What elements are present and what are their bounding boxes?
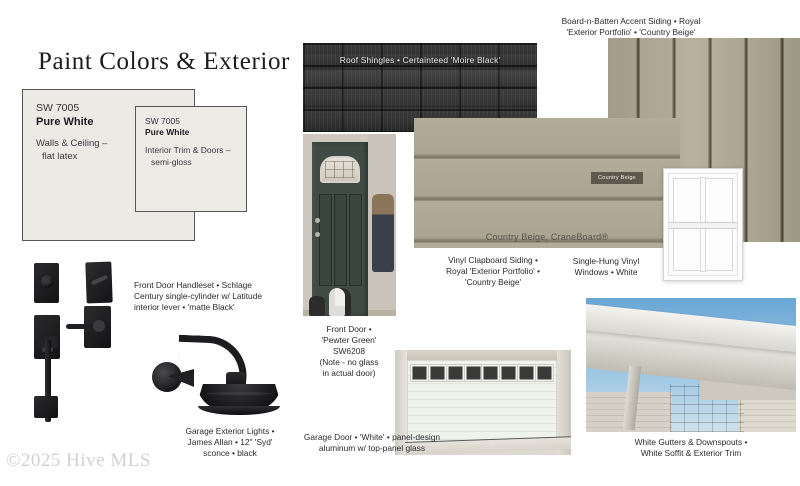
door-panel-2 [334, 194, 347, 286]
window-caption-line2: Windows • White [556, 267, 656, 278]
garage-pane [465, 365, 482, 381]
paint-swatch-trim-doors: SW 7005 Pure White Interior Trim & Doors… [135, 106, 247, 212]
page-title: Paint Colors & Exterior [38, 48, 290, 76]
keyway-icon [91, 275, 108, 286]
paint-and-exterior-selection-board: Paint Colors & Exterior SW 7005 Pure Whi… [0, 0, 800, 486]
handleset-lower-plate [34, 396, 58, 418]
mls-watermark: ©2025 Hive MLS [6, 450, 151, 472]
sconce-shade-rim [198, 406, 280, 415]
handleset-caption-line2: Century single-cylinder w/ Latitude [134, 291, 304, 302]
front-door-caption-line4: (Note - no glass [302, 357, 396, 368]
exterior-escutcheon-plate-image [85, 262, 112, 304]
gutters-soffit-image [586, 298, 796, 432]
door-glass-grid [325, 161, 355, 178]
dog [329, 288, 351, 316]
gutters-caption-line1: White Gutters & Downspouts • [604, 437, 778, 448]
front-door-caption: Front Door • 'Pewter Green' SW6208 (Note… [302, 324, 396, 379]
garage-pane [447, 365, 464, 381]
clapboard-caption-line1: Vinyl Clapboard Siding • [418, 255, 568, 266]
handleset-caption-line1: Front Door Handleset • Schlage [134, 280, 304, 291]
vinyl-clapboard-caption: Vinyl Clapboard Siding • Royal 'Exterior… [418, 255, 568, 288]
handleset-caption-line3: interior lever • 'matte Black' [134, 302, 304, 313]
garage-door-caption: Garage Door • 'White' • panel-design alu… [292, 432, 452, 454]
gutter-wall-siding-right [738, 398, 796, 432]
clapboard-caption-line2: Royal 'Exterior Portfolio' • [418, 266, 568, 277]
door-glass-lite [320, 156, 360, 183]
swatch-use-trim-line1: Interior Trim & Doors – [145, 145, 246, 157]
garage-pane [500, 365, 517, 381]
front-door-caption-line5: in actual door) [302, 368, 396, 379]
sconce-caption-line3: sconce • black [164, 448, 296, 459]
swatch-name-trim: Pure White [145, 127, 246, 138]
lever-rose-icon [93, 320, 105, 332]
batten-caption-line2: 'Exterior Portfolio' • 'Country Beige' [526, 27, 736, 38]
single-hung-vinyl-window-image [663, 168, 743, 281]
gutters-caption-line2: White Soffit & Exterior Trim [604, 448, 778, 459]
board-n-batten-caption: Board-n-Batten Accent Siding • Royal 'Ex… [526, 16, 736, 38]
garage-pane [518, 365, 535, 381]
sconce-caption: Garage Exterior Lights • James Allan • 1… [164, 426, 296, 459]
garage-pane [536, 365, 553, 381]
window-sash-divider [669, 223, 737, 228]
hanging-coat [372, 194, 394, 272]
garage-pane [429, 365, 446, 381]
batten-caption-line1: Board-n-Batten Accent Siding • Royal [526, 16, 736, 27]
garage-pane [411, 365, 428, 381]
front-door-caption-line3: SW6208 [302, 346, 396, 357]
sconce-caption-line1: Garage Exterior Lights • [164, 426, 296, 437]
handleset-caption: Front Door Handleset • Schlage Century s… [134, 280, 304, 313]
window-caption-line1: Single-Hung Vinyl [556, 256, 656, 267]
garage-pane [482, 365, 499, 381]
window-caption: Single-Hung Vinyl Windows • White [556, 256, 656, 278]
garage-caption-line2: aluminum w/ top-panel glass [292, 443, 452, 454]
door-panel-3 [349, 194, 362, 286]
deadbolt-plate-image [34, 263, 59, 303]
latitude-interior-lever-image [84, 306, 111, 348]
garage-caption-line1: Garage Door • 'White' • panel-design [292, 432, 452, 443]
roof-shingles-label: Roof Shingles • Certainteed 'Moire Black… [303, 55, 537, 65]
sconce-shade-highlight [206, 392, 272, 395]
country-beige-color-chip: Country Beige [591, 172, 643, 184]
deadbolt-thumbturn-icon [41, 275, 54, 288]
front-door-image [303, 134, 396, 316]
clapboard-caption-line3: 'Country Beige' [418, 277, 568, 288]
door-deadbolt-icon [315, 218, 320, 223]
front-door-caption-line2: 'Pewter Green' [302, 335, 396, 346]
door-wall-left [303, 134, 312, 316]
vinyl-clapboard-siding-image: Country Beige Country Beige, CraneBoard® [414, 118, 680, 248]
front-door-caption-line1: Front Door • [302, 324, 396, 335]
door-panel-1 [319, 194, 332, 286]
swatch-code-trim: SW 7005 [145, 116, 246, 127]
door-knob-icon [315, 232, 320, 237]
craneboard-brand-label: Country Beige, CraneBoard® [414, 232, 680, 242]
sconce-caption-line2: James Allan • 12" 'Syd' [164, 437, 296, 448]
dog-second [309, 296, 325, 316]
garage-top-panel-glass [411, 365, 553, 381]
gutters-caption: White Gutters & Downspouts • White Soffi… [604, 437, 778, 459]
garage-header-trim [395, 350, 571, 360]
exterior-sconce-light-image [152, 336, 280, 422]
swatch-use-trim-line2: semi-gloss [145, 157, 246, 169]
